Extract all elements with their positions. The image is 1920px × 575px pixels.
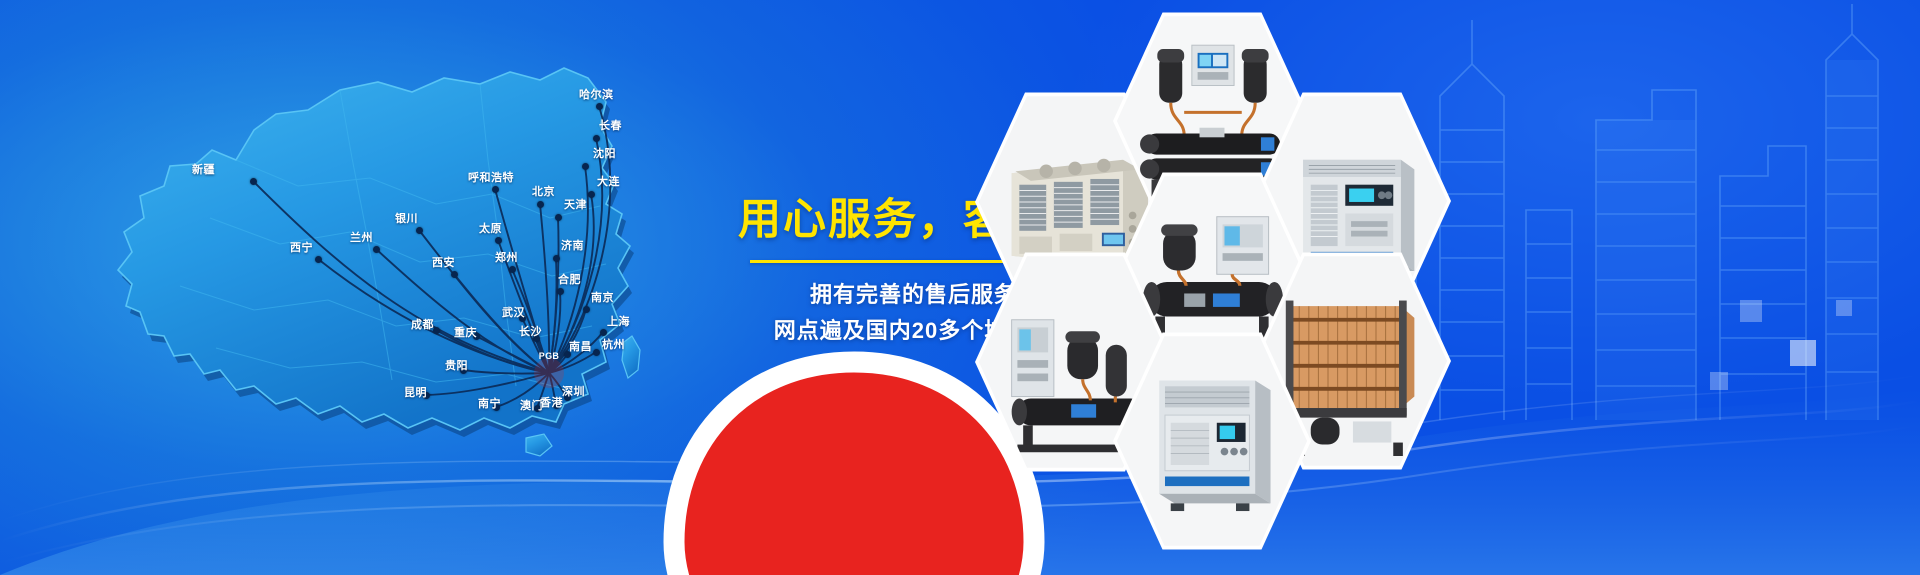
- decor-square: [1836, 300, 1852, 316]
- city-dot[interactable]: [492, 186, 499, 193]
- city-dot[interactable]: [493, 404, 500, 411]
- city-dot[interactable]: [509, 266, 516, 273]
- city-dot[interactable]: [537, 201, 544, 208]
- city-dot[interactable]: [588, 191, 595, 198]
- city-dot[interactable]: [593, 135, 600, 142]
- city-dot[interactable]: [555, 214, 562, 221]
- city-dot[interactable]: [423, 392, 430, 399]
- city-dot[interactable]: [557, 288, 564, 295]
- china-service-map: 新疆哈尔滨长春沈阳呼和浩特北京天津大连银川太原兰州西宁济南西安郑州合肥南京上海武…: [40, 18, 680, 468]
- city-dot[interactable]: [533, 335, 540, 342]
- decor-square: [1790, 340, 1816, 366]
- city-dot[interactable]: [600, 329, 607, 336]
- city-dot[interactable]: [596, 103, 603, 110]
- hub-marker-label: PGB: [534, 351, 564, 361]
- city-dot[interactable]: [451, 271, 458, 278]
- city-dot[interactable]: [582, 163, 589, 170]
- decor-square: [1740, 300, 1762, 322]
- hub-marker-guangzhou[interactable]: PGB: [534, 347, 564, 377]
- city-dot[interactable]: [553, 255, 560, 262]
- city-dot[interactable]: [460, 367, 467, 374]
- city-dot[interactable]: [495, 237, 502, 244]
- city-dot[interactable]: [250, 178, 257, 185]
- city-dot[interactable]: [416, 227, 423, 234]
- city-dot[interactable]: [315, 256, 322, 263]
- city-dot[interactable]: [519, 315, 526, 322]
- city-dot[interactable]: [433, 327, 440, 334]
- decor-square: [1710, 372, 1728, 390]
- service-network-banner: 新疆哈尔滨长春沈阳呼和浩特北京天津大连银川太原兰州西宁济南西安郑州合肥南京上海武…: [0, 0, 1920, 575]
- city-dot[interactable]: [583, 306, 590, 313]
- city-dot[interactable]: [473, 333, 480, 340]
- city-dot[interactable]: [373, 246, 380, 253]
